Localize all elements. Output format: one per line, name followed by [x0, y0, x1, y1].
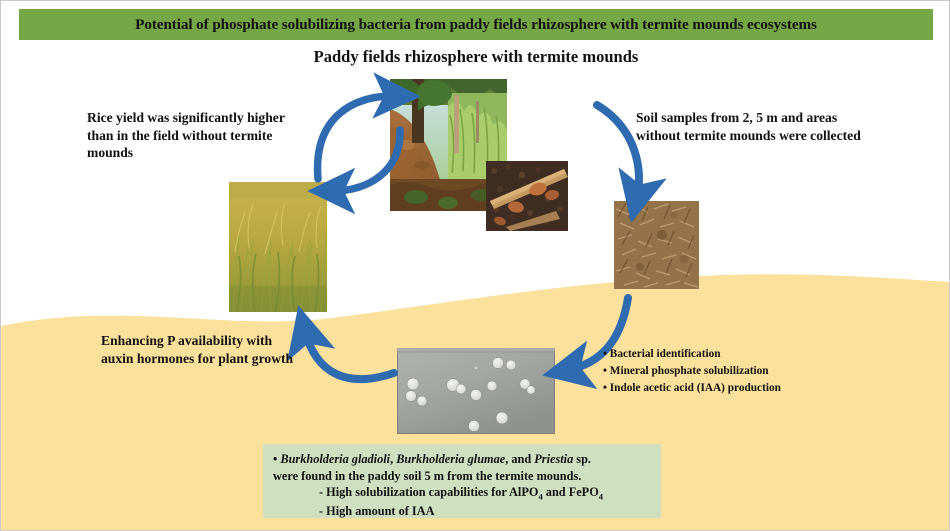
species-name-1: Burkholderia glumae — [396, 452, 505, 466]
rice-field-photo — [229, 182, 327, 312]
annotation-auxin-line1: Enhancing P availability with — [101, 332, 351, 350]
sub1-text-a: - High solubilization capabilities for A… — [319, 485, 538, 499]
conclusion-sub-line-1: - High solubilization capabilities for A… — [273, 484, 651, 503]
sub1-text-b: and FePO — [543, 485, 599, 499]
conclusion-tail: sp. — [573, 452, 591, 466]
bullet-item-2: • Indole acetic acid (IAA) production — [603, 380, 833, 397]
agar-plate-photo — [397, 348, 555, 434]
conclusion-line-1: • Burkholderia gladioli, Burkholderia gl… — [273, 451, 651, 468]
annotation-soil-sampling: Soil samples from 2, 5 m and areas witho… — [636, 109, 911, 144]
annotation-soil-sampling-line2: without termite mounds were collected — [636, 127, 911, 145]
conclusion-line-2: were found in the paddy soil 5 m from th… — [273, 468, 651, 485]
analysis-bullet-list: • Bacterial identification • Mineral pho… — [603, 346, 833, 397]
species-name-2: Priestia — [534, 452, 573, 466]
title-text: Potential of phosphate solubilizing bact… — [135, 16, 817, 34]
annotation-rice-yield-line3: mounds — [87, 144, 332, 162]
bullet-item-1: • Mineral phosphate solubilization — [603, 363, 833, 380]
graphical-abstract-canvas: Potential of phosphate solubilizing bact… — [0, 0, 950, 531]
annotation-auxin: Enhancing P availability with auxin horm… — [101, 332, 351, 367]
annotation-rice-yield: Rice yield was significantly higher than… — [87, 109, 332, 162]
termite-mound-closeup-photo — [486, 161, 568, 231]
annotation-rice-yield-line1: Rice yield was significantly higher — [87, 109, 332, 127]
sub1-subscript-2: 4 — [599, 492, 603, 502]
annotation-auxin-line2: auxin hormones for plant growth — [101, 350, 351, 368]
soil-sample-photo — [614, 201, 699, 289]
conclusion-sep-2: , and — [505, 452, 534, 466]
conclusion-box: • Burkholderia gladioli, Burkholderia gl… — [263, 444, 661, 518]
bullet-item-0: • Bacterial identification — [603, 346, 833, 363]
subtitle-text: Paddy fields rhizosphere with termite mo… — [1, 47, 950, 67]
annotation-soil-sampling-line1: Soil samples from 2, 5 m and areas — [636, 109, 911, 127]
title-banner: Potential of phosphate solubilizing bact… — [19, 9, 933, 40]
species-name-0: Burkholderia gladioli — [280, 452, 390, 466]
conclusion-sub-line-2: - High amount of IAA — [273, 503, 651, 520]
annotation-rice-yield-line2: than in the field without termite — [87, 127, 332, 145]
